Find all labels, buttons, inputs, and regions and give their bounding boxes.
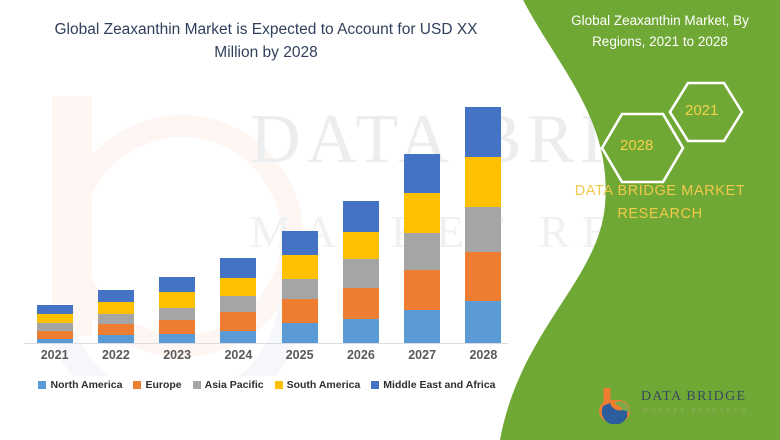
hexagon-2028-label: 2028: [620, 137, 653, 154]
bar-slot: [85, 96, 146, 343]
bar-slot: [208, 96, 269, 343]
bar-segment[interactable]: [159, 292, 195, 308]
bar-segment[interactable]: [282, 279, 318, 299]
hexagon-group: 2021 2028: [560, 80, 770, 190]
x-axis-labels: 20212022202320242025202620272028: [24, 348, 514, 370]
bar-slot: [269, 96, 330, 343]
bar-segment[interactable]: [220, 296, 256, 312]
bar-segment[interactable]: [465, 301, 501, 343]
stacked-bar-chart: [24, 96, 514, 343]
x-axis-line: [24, 343, 508, 344]
hexagon-2021-label: 2021: [685, 102, 718, 119]
bar-segment[interactable]: [98, 324, 134, 335]
bar-segment[interactable]: [282, 255, 318, 278]
stacked-bar-2021[interactable]: [37, 305, 73, 343]
bar-segment[interactable]: [98, 335, 134, 343]
brand-block: DATA BRIDGE MARKET RESEARCH: [550, 180, 770, 226]
stacked-bar-2027[interactable]: [404, 154, 440, 343]
bar-segment[interactable]: [282, 231, 318, 255]
legend-label: North America: [50, 379, 122, 391]
bar-segment[interactable]: [282, 299, 318, 323]
bar-segment[interactable]: [404, 270, 440, 310]
bar-segment[interactable]: [98, 314, 134, 324]
stacked-bar-2026[interactable]: [343, 201, 379, 343]
legend-label: South America: [287, 379, 361, 391]
brand-line-2: RESEARCH: [550, 203, 770, 226]
bar-segment[interactable]: [465, 107, 501, 157]
bar-segment[interactable]: [98, 290, 134, 302]
bar-segment[interactable]: [159, 334, 195, 343]
bar-segment[interactable]: [37, 314, 73, 323]
bar-segment[interactable]: [159, 320, 195, 334]
bar-segment[interactable]: [159, 308, 195, 320]
bar-segment[interactable]: [343, 201, 379, 232]
legend-item[interactable]: Middle East and Africa: [371, 379, 495, 391]
bar-segment[interactable]: [159, 277, 195, 293]
stacked-bar-2022[interactable]: [98, 290, 134, 343]
bar-segment[interactable]: [404, 233, 440, 270]
bar-segment[interactable]: [37, 323, 73, 331]
bar-segment[interactable]: [98, 302, 134, 314]
legend-label: Asia Pacific: [205, 379, 264, 391]
bar-segment[interactable]: [282, 323, 318, 343]
legend-item[interactable]: Europe: [133, 379, 181, 391]
bar-segment[interactable]: [220, 312, 256, 331]
bar-segment[interactable]: [465, 252, 501, 301]
brand-line-1: DATA BRIDGE MARKET: [550, 180, 770, 203]
stacked-bar-2023[interactable]: [159, 277, 195, 343]
legend-label: Middle East and Africa: [383, 379, 495, 391]
stacked-bar-2024[interactable]: [220, 258, 256, 343]
bar-segment[interactable]: [343, 288, 379, 319]
x-axis-label-2022: 2022: [85, 348, 146, 370]
stacked-bar-2025[interactable]: [282, 231, 318, 343]
bar-segment[interactable]: [37, 305, 73, 314]
bar-segment[interactable]: [220, 258, 256, 278]
legend-swatch-icon: [275, 381, 283, 389]
hexagon-shapes: [560, 80, 770, 190]
bar-segment[interactable]: [404, 154, 440, 194]
bar-slot: [147, 96, 208, 343]
bar-segment[interactable]: [404, 193, 440, 233]
legend-swatch-icon: [371, 381, 379, 389]
bar-segment[interactable]: [465, 157, 501, 207]
green-panel-title: Global Zeaxanthin Market, By Regions, 20…: [550, 10, 770, 52]
bar-segment[interactable]: [343, 319, 379, 343]
x-axis-label-2026: 2026: [330, 348, 391, 370]
bar-slot: [453, 96, 514, 343]
logo-name: DATA BRIDGE: [641, 389, 746, 405]
bar-segment[interactable]: [465, 207, 501, 252]
legend-swatch-icon: [193, 381, 201, 389]
x-axis-label-2027: 2027: [392, 348, 453, 370]
logo-b-icon: [597, 386, 637, 424]
legend-item[interactable]: South America: [275, 379, 361, 391]
infographic-canvas: DATA BRIDGE MARKET RESEARCH Global Zeaxa…: [0, 0, 780, 440]
x-axis-label-2028: 2028: [453, 348, 514, 370]
bar-segment[interactable]: [220, 278, 256, 297]
bar-segment[interactable]: [343, 232, 379, 259]
x-axis-label-2025: 2025: [269, 348, 330, 370]
legend-swatch-icon: [38, 381, 46, 389]
chart-legend: North AmericaEuropeAsia PacificSouth Ame…: [12, 376, 522, 394]
stacked-bar-2028[interactable]: [465, 107, 501, 343]
green-panel-content: Global Zeaxanthin Market, By Regions, 20…: [540, 0, 780, 440]
bar-slot: [330, 96, 391, 343]
bar-segment[interactable]: [220, 331, 256, 343]
x-axis-label-2021: 2021: [24, 348, 85, 370]
data-bridge-logo: DATA BRIDGE MARKET RESEARCH: [597, 386, 757, 426]
legend-swatch-icon: [133, 381, 141, 389]
legend-item[interactable]: Asia Pacific: [193, 379, 264, 391]
legend-label: Europe: [145, 379, 181, 391]
logo-tagline: MARKET RESEARCH: [642, 407, 749, 415]
legend-item[interactable]: North America: [38, 379, 122, 391]
bar-segment[interactable]: [37, 331, 73, 339]
bar-segment[interactable]: [404, 310, 440, 343]
x-axis-label-2023: 2023: [147, 348, 208, 370]
bar-slot: [24, 96, 85, 343]
bar-segment[interactable]: [343, 259, 379, 288]
x-axis-label-2024: 2024: [208, 348, 269, 370]
page-title: Global Zeaxanthin Market is Expected to …: [36, 18, 496, 64]
bar-slot: [392, 96, 453, 343]
